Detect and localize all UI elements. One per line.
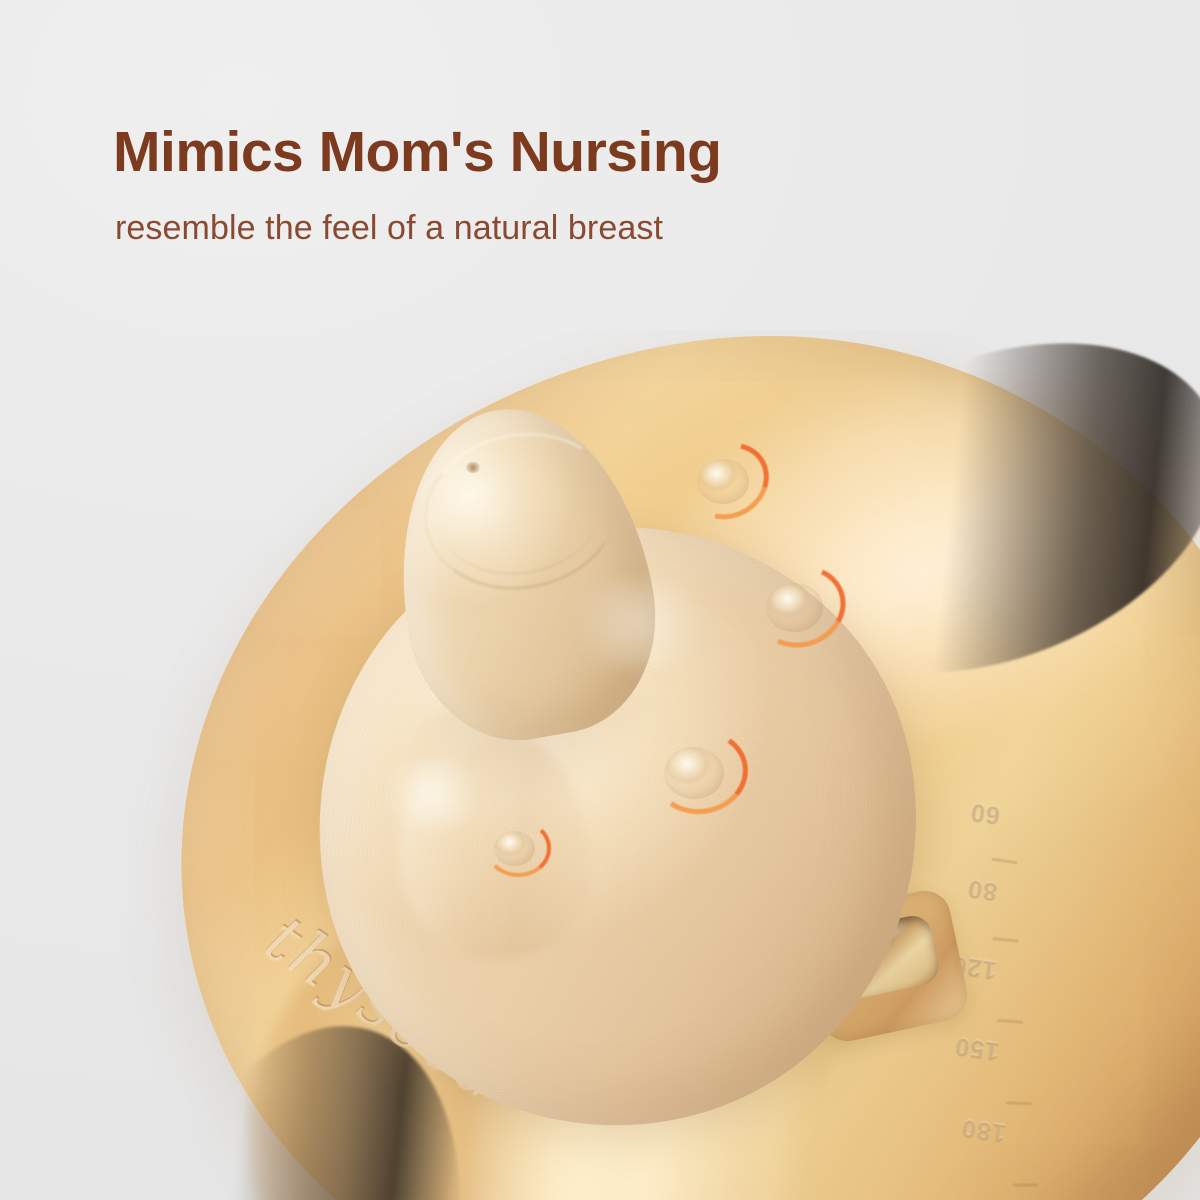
page-title: Mimics Mom's Nursing xyxy=(113,122,1113,184)
headline-block: Mimics Mom's Nursing resemble the feel o… xyxy=(113,122,1113,248)
nipple-vent-hole xyxy=(466,462,480,473)
nipple-nub-mid-right xyxy=(754,566,846,658)
scale-dash xyxy=(1013,1184,1039,1187)
nipple-nub-lower-right xyxy=(652,730,748,826)
scale-dash xyxy=(1006,1101,1032,1105)
product-photo: 240 180 150 120 80 60 thyseed xyxy=(0,330,1200,1200)
page-subtitle: resemble the feel of a natural breast xyxy=(115,208,1113,249)
accent-ring-icon xyxy=(484,818,552,878)
accent-ring-icon xyxy=(744,554,857,659)
accent-ring-icon xyxy=(647,724,754,821)
scale-dash xyxy=(992,937,1018,943)
nipple-nub-lower-left xyxy=(485,819,551,885)
scale-tick-150: 150 xyxy=(953,1030,1001,1065)
scale-dash xyxy=(991,858,1017,865)
nipple-nub-upper-right xyxy=(686,444,770,528)
product-banner: Mimics Mom's Nursing resemble the feel o… xyxy=(0,0,1200,1200)
scale-tick-60: 60 xyxy=(968,796,1002,829)
scale-dash xyxy=(997,1019,1023,1024)
accent-ring-icon xyxy=(673,428,783,534)
scale-tick-80: 80 xyxy=(966,873,1000,906)
scale-tick-240: 240 xyxy=(970,1194,1018,1200)
scale-tick-180: 180 xyxy=(959,1112,1007,1147)
